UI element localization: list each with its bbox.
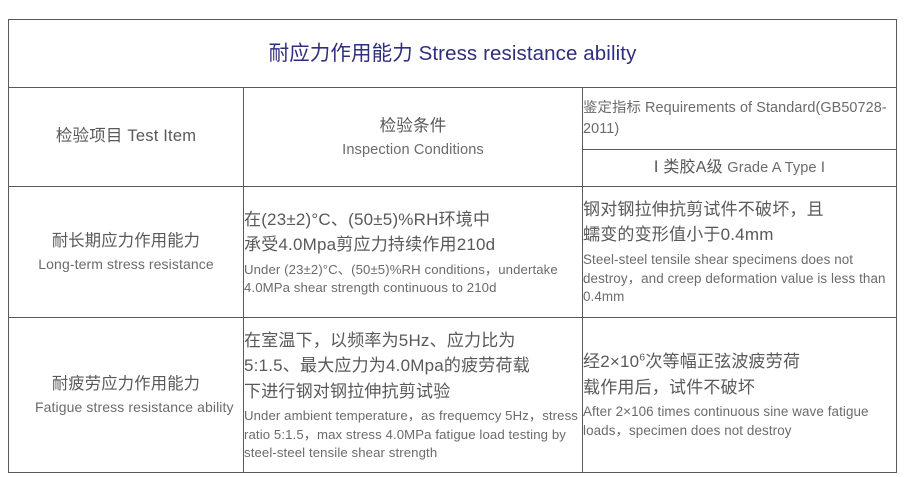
row-1-condition-cn-line-2: 承受4.0Mpa剪应力持续作用210d — [244, 232, 582, 258]
header-requirements: 鉴定指标 Requirements of Standard(GB50728-20… — [583, 88, 897, 150]
header-inspection-conditions-en: Inspection Conditions — [244, 140, 582, 161]
row-2-requirement-cn-line-2: 载作用后，试件不破坏 — [583, 375, 896, 401]
row-1-requirement: 钢对钢拉伸抗剪试件不破坏，且 蠕变的变形值小于0.4mm Steel-steel… — [583, 187, 897, 318]
row-2-item-en: Fatigue stress resistance ability — [9, 398, 243, 418]
row-2-test-item: 耐疲劳应力作用能力 Fatigue stress resistance abil… — [9, 318, 244, 473]
row-2-condition-cn-line-3: 下进行钢对钢拉伸抗剪试验 — [244, 379, 582, 405]
row-1-test-item: 耐长期应力作用能力 Long-term stress resistance — [9, 187, 244, 318]
title-cell: 耐应力作用能力 Stress resistance ability — [9, 20, 897, 88]
row-2-condition: 在室温下，以频率为5Hz、应力比为 5:1.5、最大应力为4.0Mpa的疲劳荷载… — [244, 318, 583, 473]
header-grade-en: Grade A Type Ⅰ — [727, 160, 825, 176]
row-1-condition-en: Under (23±2)°C、(50±5)%RH conditions，unde… — [244, 261, 582, 298]
row-2-condition-cn-line-2: 5:1.5、最大应力为4.0Mpa的疲劳荷载 — [244, 353, 582, 379]
header-test-item-label: 检验项目 Test Item — [56, 127, 196, 145]
header-requirements-label: 鉴定指标 Requirements of Standard(GB50728-20… — [583, 98, 896, 140]
page-title: 耐应力作用能力 Stress resistance ability — [269, 42, 637, 65]
table-title-row: 耐应力作用能力 Stress resistance ability — [9, 20, 897, 88]
row-1-condition-cn-line-1: 在(23±2)°C、(50±5)%RH环境中 — [244, 207, 582, 233]
row-2-requirement-cn-post: 次等幅正弦波疲劳荷 — [645, 352, 800, 371]
header-test-item: 检验项目 Test Item — [9, 88, 244, 187]
row-2-requirement-cn-line-1: 经2×106次等幅正弦波疲劳荷 — [583, 349, 896, 375]
stress-resistance-table: 耐应力作用能力 Stress resistance ability 检验项目 T… — [8, 19, 897, 473]
row-1-item-cn: 耐长期应力作用能力 — [9, 229, 243, 254]
spec-table-page: 耐应力作用能力 Stress resistance ability 检验项目 T… — [0, 0, 905, 477]
row-1-item-en: Long-term stress resistance — [9, 255, 243, 275]
row-2-condition-en: Under ambient temperature，as frequemcy 5… — [244, 407, 582, 462]
row-1-requirement-en: Steel-steel tensile shear specimens does… — [583, 251, 896, 307]
header-inspection-conditions-cn: 检验条件 — [244, 114, 582, 139]
header-inspection-conditions: 检验条件 Inspection Conditions — [244, 88, 583, 187]
table-row: 耐长期应力作用能力 Long-term stress resistance 在(… — [9, 187, 897, 318]
header-grade-cn: Ⅰ 类胶A级 — [654, 159, 723, 176]
row-2-requirement: 经2×106次等幅正弦波疲劳荷 载作用后，试件不破坏 After 2×106 t… — [583, 318, 897, 473]
row-2-requirement-en: After 2×106 times continuous sine wave f… — [583, 403, 896, 441]
row-1-condition: 在(23±2)°C、(50±5)%RH环境中 承受4.0Mpa剪应力持续作用21… — [244, 187, 583, 318]
row-2-requirement-cn-pre: 经2×10 — [583, 352, 639, 371]
row-1-requirement-cn-line-1: 钢对钢拉伸抗剪试件不破坏，且 — [583, 197, 896, 223]
table-row: 耐疲劳应力作用能力 Fatigue stress resistance abil… — [9, 318, 897, 473]
header-grade: Ⅰ 类胶A级 Grade A Type Ⅰ — [583, 150, 897, 187]
row-2-item-cn: 耐疲劳应力作用能力 — [9, 372, 243, 397]
table-header-row: 检验项目 Test Item 检验条件 Inspection Condition… — [9, 88, 897, 150]
row-1-requirement-cn-line-2: 蠕变的变形值小于0.4mm — [583, 222, 896, 248]
row-2-condition-cn-line-1: 在室温下，以频率为5Hz、应力比为 — [244, 328, 582, 354]
